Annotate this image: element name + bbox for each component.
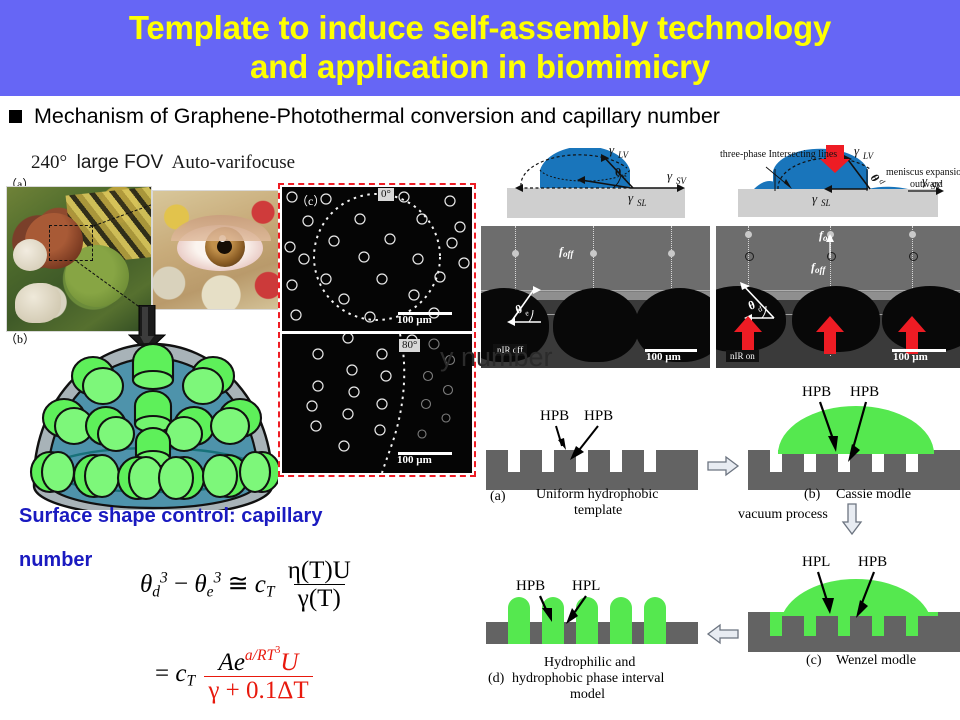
microlens [159,457,204,499]
f-off-label-left: foff [559,244,573,259]
fov-mid-text: large FOV [77,152,164,173]
eye-in-flowers-photo [152,190,285,310]
scale-text-bottom: 100 µm [397,454,432,466]
svg-text:Cassie modle: Cassie modle [836,487,911,502]
eq1-numerator: η(T)U [284,558,355,584]
angle-label-top: 0° [378,188,394,201]
sem-image-nir-on: θ d fon foff nIR on 100 µm [716,226,960,368]
biomimetic-dome-diagram [28,330,278,510]
arrow-a-to-b [708,457,738,475]
svg-text:θ: θ [615,165,621,179]
eq1-ct: cT [255,571,275,598]
sem-scale-text-right: 100 µm [893,351,928,363]
svg-text:Uniform hydrophobic: Uniform hydrophobic [536,487,658,502]
svg-text:(c): (c) [806,653,822,668]
svg-text:LV: LV [862,151,875,161]
svg-text:Hydrophilic and: Hydrophilic and [544,655,635,670]
eq2-ct: cT [175,660,195,687]
eq2-num-U: U [280,649,298,676]
svg-text:HPB: HPB [802,384,831,400]
sem-angle-annotation-right: θ d [716,226,960,368]
svg-text:γ: γ [667,168,673,183]
f-on-label: fon [819,228,833,243]
slide-canvas: Template to induce self-assembly technol… [0,0,960,720]
bullet-text: Mechanism of Graphene-Photothermal conve… [34,104,720,129]
eq2-fraction: Aea/RT3U γ + 0.1ΔT [204,645,312,706]
svg-text:γ: γ [609,148,615,157]
eye-lid [171,215,271,241]
eq1-fraction: η(T)U γ(T) [284,558,355,614]
microscope-panel-label: （c） [296,192,325,209]
page-title: Template to induce self-assembly technol… [0,0,960,96]
sem-scale-text-left: 100 µm [646,351,681,363]
degree-symbol-icon: ° [60,152,68,173]
svg-text:HPL: HPL [572,578,600,594]
svg-text:HPB: HPB [850,384,879,400]
eq2-num-exponent: a/RT [245,647,275,664]
microlens [118,457,163,499]
svg-text:template: template [574,503,622,518]
hpb-process-diagram: HPB HPB (a) Uniform hydrophobic template… [486,378,960,718]
eq1-theta-d: θd3 [140,571,168,598]
wetting-schematic-irradiated: three-phase Intersecting lines γ LV γ SV… [718,143,960,224]
hpb-a-label-2: HPB [584,408,613,424]
dragonfly-leg [15,283,61,323]
svg-text:e: e [623,172,627,181]
svg-text:meniscus expansion: meniscus expansion [886,167,960,178]
hpb-panel-c: HPL HPB (c) Wenzel modle [748,554,960,668]
hpb-a-label-1: HPB [540,408,569,424]
bullet-row: Mechanism of Graphene-Photothermal conve… [9,101,939,131]
square-bullet-icon [9,110,22,123]
zoom-region-box [49,225,93,261]
angle-label-bottom: 80° [399,339,420,352]
svg-text:outward: outward [910,179,943,190]
microlens [31,452,74,492]
svg-text:HPL: HPL [802,554,830,570]
hpb-panel-b: HPB HPB (b) Cassie modle [748,384,960,502]
microlens [74,455,119,497]
eq1-theta-e: θe3 [194,571,221,598]
wetting-schematic-equilibrium: γ LV γ SV γ SL θ e [485,148,715,224]
svg-text:γ: γ [854,143,860,158]
svg-text:SV: SV [676,176,688,186]
fov-degrees: 240 [31,152,60,173]
fov-end-text: Auto-varifocuse [172,152,295,173]
eq2-num-Ae: Ae [219,649,245,676]
fov-caption: 240° large FOV Auto-varifocuse [31,152,295,174]
title-line-2: and application in biomimicry [250,47,710,86]
svg-text:hydrophobic phase interval: hydrophobic phase interval [512,671,665,686]
title-line-1: Template to induce self-assembly technol… [129,8,831,47]
svg-text:SL: SL [821,198,831,208]
eq2-equals: = [155,660,169,687]
eq1-minus: − [174,571,188,598]
heading-surface-shape-control: Surface shape control: capillary [19,505,322,528]
hpb-panel-a: HPB HPB (a) Uniform hydrophobic template [486,408,698,518]
svg-text:θ: θ [514,302,524,317]
svg-text:e: e [524,308,531,318]
vacuum-process-arrow: vacuum process [738,504,861,534]
svg-text:γ: γ [812,191,818,206]
heading-number: number [19,549,92,572]
equation-capillary-1: θd3 − θe3 ≅ cT η(T)U γ(T) [140,558,358,614]
microlens [133,344,173,389]
eq1-denominator: γ(T) [294,584,345,614]
svg-text:vacuum process: vacuum process [738,507,828,522]
svg-text:HPB: HPB [858,554,887,570]
svg-text:Wenzel modle: Wenzel modle [836,653,916,668]
microlens [240,452,278,492]
f-off-label-right: foff [811,260,825,275]
equation-capillary-2: = cT Aea/RT3U γ + 0.1ΔT [155,645,316,706]
svg-text:(d): (d) [488,671,505,686]
scale-text-top: 100 µm [397,314,432,326]
svg-text:γ: γ [628,190,634,205]
svg-text:three-phase Intersecting lines: three-phase Intersecting lines [720,149,837,160]
svg-text:HPB: HPB [516,578,545,594]
svg-text:model: model [570,687,605,702]
svg-text:SL: SL [637,198,647,208]
microlens [135,391,171,432]
svg-text:θ: θ [746,298,757,313]
eq1-approx: ≅ [228,571,249,598]
svg-text:LV: LV [617,150,630,160]
eq2-numerator: Aea/RT3U [215,645,303,676]
hpb-panel-d: HPB HPL (d) Hydrophilic and hydrophobic … [486,578,698,702]
eq2-denominator: γ + 0.1ΔT [204,676,312,706]
svg-text:(b): (b) [804,487,821,502]
overflow-heading-fragment: y number [440,342,553,373]
dragonfly-mouthpart [13,239,47,271]
svg-text:(a): (a) [490,489,506,504]
arrow-c-to-d [708,625,738,643]
sem-caption-right: nIR on [726,350,759,362]
